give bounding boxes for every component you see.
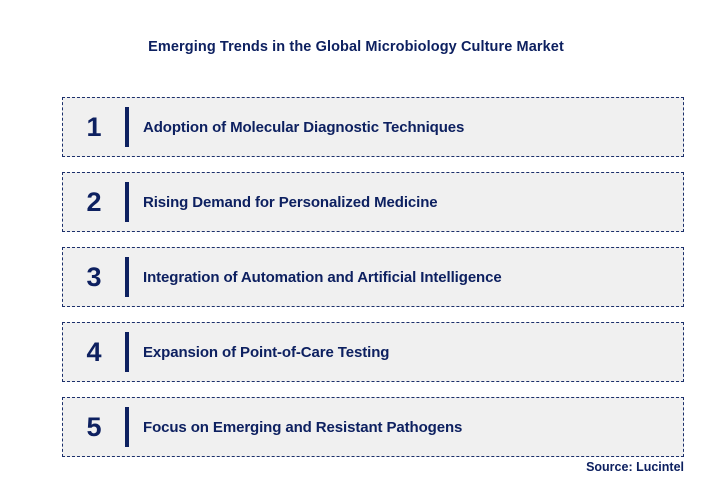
trend-list: 1 Adoption of Molecular Diagnostic Techn… xyxy=(62,97,684,457)
trend-number: 5 xyxy=(63,412,125,442)
trend-number: 1 xyxy=(63,112,125,142)
trend-label: Adoption of Molecular Diagnostic Techniq… xyxy=(129,118,683,137)
list-item: 5 Focus on Emerging and Resistant Pathog… xyxy=(62,397,684,457)
list-item: 1 Adoption of Molecular Diagnostic Techn… xyxy=(62,97,684,157)
page-title: Emerging Trends in the Global Microbiolo… xyxy=(0,38,712,56)
list-item: 4 Expansion of Point-of-Care Testing xyxy=(62,322,684,382)
trend-number: 3 xyxy=(63,262,125,292)
trend-number: 2 xyxy=(63,187,125,217)
source-attribution: Source: Lucintel xyxy=(586,460,684,474)
list-item: 2 Rising Demand for Personalized Medicin… xyxy=(62,172,684,232)
list-item: 3 Integration of Automation and Artifici… xyxy=(62,247,684,307)
trend-label: Focus on Emerging and Resistant Pathogen… xyxy=(129,418,683,437)
trend-label: Expansion of Point-of-Care Testing xyxy=(129,343,683,362)
trend-number: 4 xyxy=(63,337,125,367)
trend-label: Integration of Automation and Artificial… xyxy=(129,268,683,287)
infographic-canvas: Emerging Trends in the Global Microbiolo… xyxy=(0,0,712,501)
trend-label: Rising Demand for Personalized Medicine xyxy=(129,193,683,212)
